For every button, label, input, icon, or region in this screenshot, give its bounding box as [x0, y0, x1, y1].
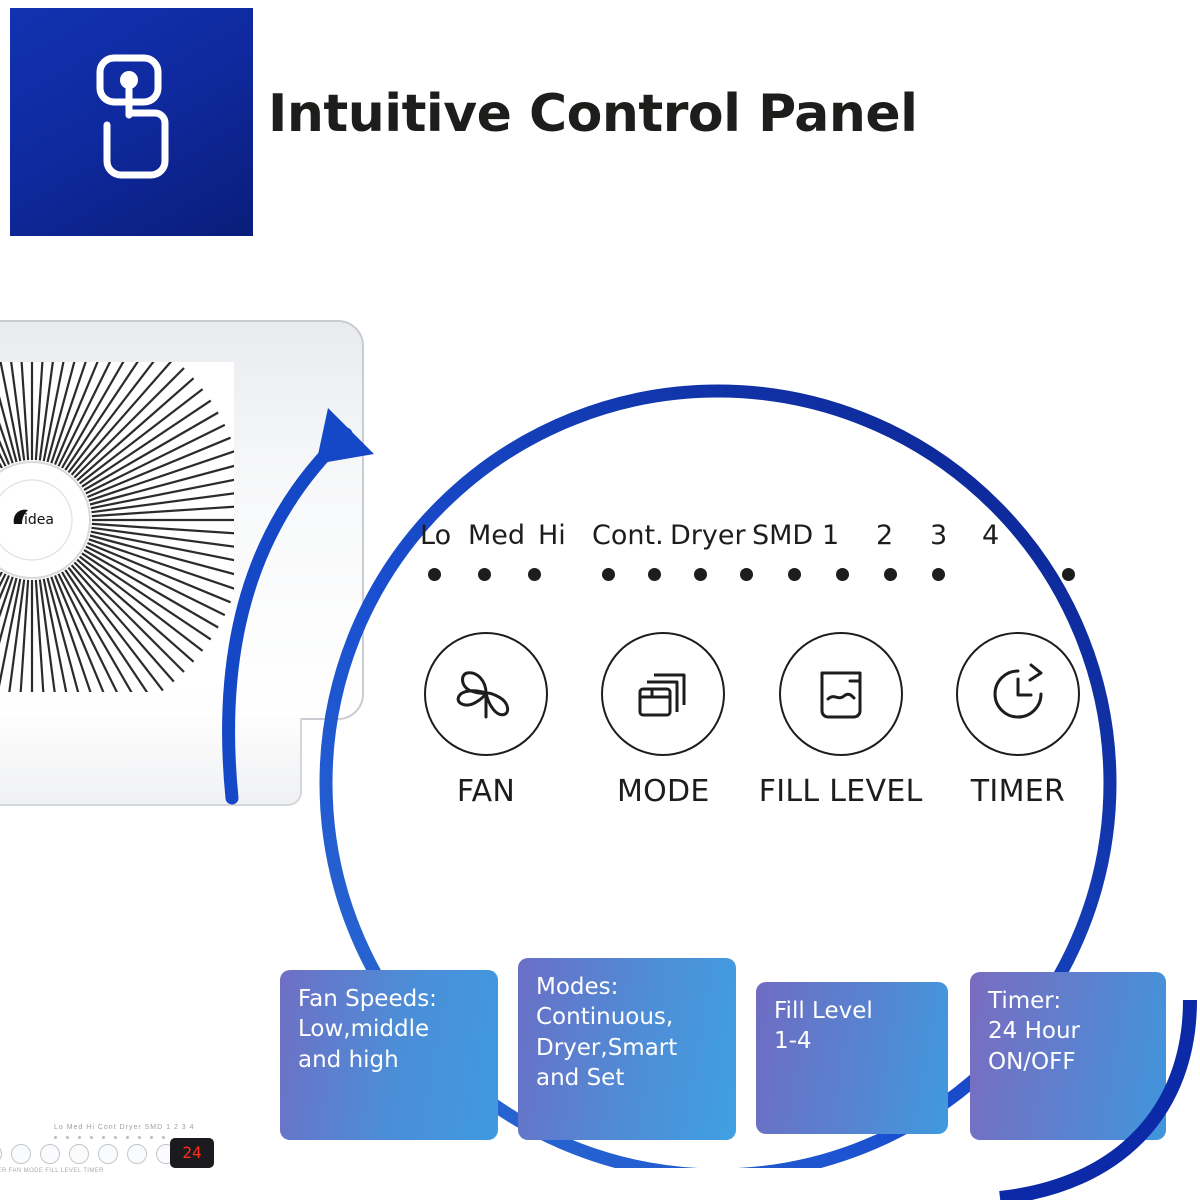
product-mini-buttons [0, 1144, 176, 1164]
card-line: Modes: [536, 972, 720, 1002]
product-mini-dots [54, 1136, 165, 1139]
indicator-label-1: 1 [822, 520, 839, 551]
control-fill-level[interactable]: FILL LEVEL [757, 632, 925, 809]
layers-mode-icon[interactable] [601, 632, 725, 756]
indicator-label-hi: Hi [538, 520, 566, 551]
card-line: Low,middle [298, 1014, 482, 1044]
card-line: and high [298, 1045, 482, 1075]
product-mini-indicator-labels: Lo Med Hi Cont Dryer SMD 1 2 3 4 [54, 1124, 195, 1131]
indicator-dot-row [380, 568, 1100, 594]
indicator-label-lo: Lo [420, 520, 451, 551]
card-line: 1-4 [774, 1026, 932, 1056]
control-icon-row: FAN MODE [402, 632, 1102, 809]
control-label-fan: FAN [402, 774, 570, 809]
feature-card-modes: Modes: Continuous, Dryer,Smart and Set [518, 958, 736, 1140]
card-line: Fan Speeds: [298, 984, 482, 1014]
feature-card-fan-speeds: Fan Speeds: Low,middle and high [280, 970, 498, 1140]
control-mode[interactable]: MODE [579, 632, 747, 809]
control-panel-detail: Lo Med Hi Cont. Dryer SMD 1 2 3 4 [380, 520, 1100, 594]
fan-blade-icon[interactable] [424, 632, 548, 756]
feature-card-fill-level: Fill Level 1-4 [756, 982, 948, 1134]
touch-finger-icon [84, 50, 180, 190]
indicator-label-cont: Cont. [592, 520, 664, 551]
indicator-label-row: Lo Med Hi Cont. Dryer SMD 1 2 3 4 [380, 520, 1100, 554]
card-line: Continuous, [536, 1002, 720, 1032]
card-line: Fill Level [774, 996, 932, 1026]
control-label-timer: TIMER [934, 774, 1102, 809]
product-mini-button-labels: POWER FAN MODE FILL LEVEL TIMER [0, 1168, 104, 1174]
page-title: Intuitive Control Panel [268, 84, 918, 144]
card-line: and Set [536, 1063, 720, 1093]
indicator-label-dryer: Dryer [670, 520, 746, 551]
corner-arc-decoration [940, 1000, 1200, 1200]
svg-text:idea: idea [24, 512, 54, 528]
page-root: Intuitive Control Panel ide [0, 0, 1200, 1200]
indicator-label-2: 2 [876, 520, 893, 551]
header-icon-badge [10, 8, 253, 236]
indicator-label-3: 3 [930, 520, 947, 551]
indicator-label-med: Med [468, 520, 525, 551]
control-label-fill-level: FILL LEVEL [757, 774, 925, 809]
control-fan[interactable]: FAN [402, 632, 570, 809]
indicator-label-4: 4 [982, 520, 999, 551]
control-label-mode: MODE [579, 774, 747, 809]
control-timer[interactable]: TIMER [934, 632, 1102, 809]
indicator-label-smd: SMD [752, 520, 813, 551]
timer-clock-icon[interactable] [956, 632, 1080, 756]
card-line: Dryer,Smart [536, 1033, 720, 1063]
water-bucket-icon[interactable] [779, 632, 903, 756]
